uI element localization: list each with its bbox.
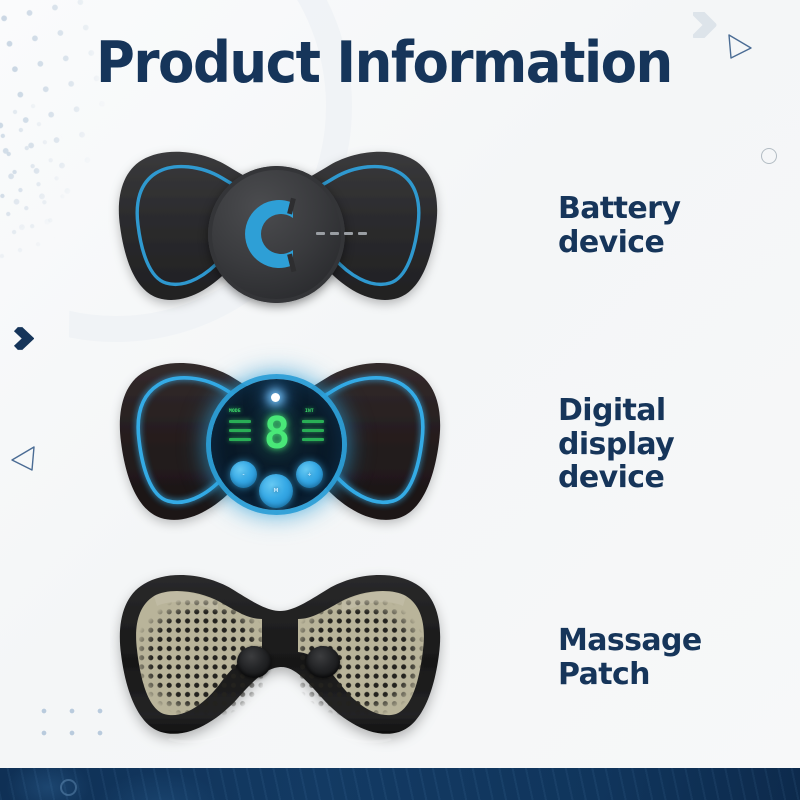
display-mode-label-right: INT bbox=[305, 409, 314, 414]
dash-segment bbox=[344, 232, 353, 235]
label-line-1: Massage bbox=[558, 624, 702, 658]
label-line-3: device bbox=[558, 461, 674, 495]
mode-button[interactable]: M bbox=[259, 474, 293, 508]
display-bar-left bbox=[229, 429, 251, 432]
brand-c-logo-icon bbox=[233, 190, 319, 278]
display-bar-right bbox=[302, 438, 324, 441]
footer-circle-decoration bbox=[60, 779, 77, 796]
triangle-left-icon bbox=[8, 444, 38, 479]
minus-button[interactable]: - bbox=[230, 461, 257, 488]
digital-display-hub[interactable]: MODE INT 8 - + M bbox=[211, 379, 342, 510]
display-mode-label-left: MODE bbox=[229, 409, 241, 414]
dash-segment bbox=[358, 232, 367, 235]
infographic-canvas: Product Information bbox=[0, 0, 800, 800]
display-bar-right bbox=[302, 429, 324, 432]
snap-connector-right bbox=[306, 646, 340, 678]
label-line-2: display bbox=[558, 428, 674, 462]
product-label-digital-display-device: Digital display device bbox=[558, 394, 674, 495]
display-bar-left bbox=[229, 420, 251, 423]
product-image-digital-display-device: MODE INT 8 - + M bbox=[108, 350, 468, 540]
digital-display-screen: MODE INT 8 bbox=[227, 407, 326, 457]
product-label-massage-patch: Massage Patch bbox=[558, 624, 702, 691]
display-bar-left bbox=[229, 438, 251, 441]
display-value: 8 bbox=[261, 411, 293, 457]
footer-bar bbox=[0, 768, 800, 800]
product-image-battery-device bbox=[108, 140, 468, 320]
battery-level-dashes bbox=[316, 232, 367, 235]
label-line-2: Patch bbox=[558, 658, 702, 692]
snap-connector-left bbox=[237, 646, 271, 678]
plus-button[interactable]: + bbox=[296, 461, 323, 488]
product-label-battery-device: Battery device bbox=[558, 192, 680, 259]
page-title: Product Information bbox=[96, 34, 691, 94]
display-bar-right bbox=[302, 420, 324, 423]
triangle-right-icon bbox=[725, 32, 755, 67]
circle-outline-icon bbox=[761, 148, 777, 164]
dash-segment bbox=[330, 232, 339, 235]
label-line-1: Battery bbox=[558, 192, 680, 226]
product-image-massage-patch bbox=[110, 562, 470, 762]
label-line-2: device bbox=[558, 226, 680, 260]
battery-device-hub[interactable] bbox=[208, 166, 345, 303]
dash-segment bbox=[316, 232, 325, 235]
dot-grid-pattern bbox=[30, 700, 114, 744]
label-line-1: Digital bbox=[558, 394, 674, 428]
power-led-indicator bbox=[271, 393, 280, 402]
